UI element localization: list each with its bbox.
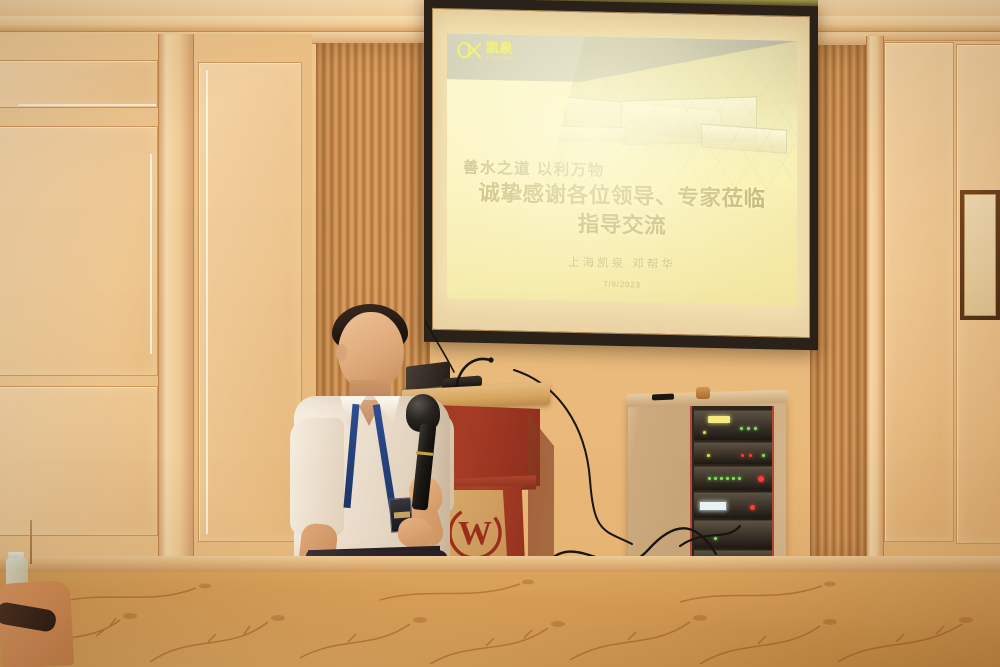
- head: [338, 312, 404, 390]
- kaiquan-logo: 凯泉 KAIQUAN: [457, 40, 516, 60]
- status-led-green: [740, 427, 743, 430]
- fluted-wood-panel-right: [810, 45, 866, 565]
- status-led-red: [750, 505, 755, 510]
- level-led: [732, 477, 735, 480]
- status-led-red: [749, 454, 752, 457]
- slide-presenter: 上海凯泉 邓帮华: [447, 251, 797, 275]
- kaiquan-k-mark-icon: [457, 42, 483, 60]
- patterned-carpet: [0, 572, 1000, 667]
- wall-pilaster: [158, 34, 194, 564]
- wall-pilaster-right: [866, 36, 884, 566]
- vfd-display: [708, 416, 730, 423]
- level-led: [720, 477, 723, 480]
- level-led: [714, 477, 717, 480]
- rack-unit-faceplate: [694, 443, 772, 464]
- rack-unit-mixer[interactable]: [694, 442, 772, 464]
- wall-panel: [0, 60, 158, 108]
- logo-brand-en: KAIQUAN: [486, 56, 516, 61]
- level-led: [708, 477, 711, 480]
- rack-unit-player[interactable]: [694, 492, 772, 518]
- wall-panel: [0, 126, 158, 376]
- wooden-knob: [696, 387, 710, 399]
- projected-slide: 凯泉 KAIQUAN 善水之道 以利万物 诚挚感谢各位领导、专家莅临 指导交流 …: [447, 33, 797, 306]
- artwork-canvas: [964, 194, 996, 316]
- status-led-green: [754, 427, 757, 430]
- level-led: [726, 477, 729, 480]
- clip-led-red: [758, 476, 764, 482]
- carpet-vine-pattern: [0, 572, 1000, 667]
- wall-panel: [0, 386, 158, 536]
- status-led-green: [747, 427, 750, 430]
- panel-highlight: [206, 70, 208, 534]
- framed-artwork: [960, 190, 1000, 320]
- projection-screen: 凯泉 KAIQUAN 善水之道 以利万物 诚挚感谢各位领导、专家莅临 指导交流 …: [424, 0, 818, 346]
- ear: [336, 344, 347, 361]
- status-led-yellow: [707, 454, 710, 457]
- panel-highlight: [150, 154, 152, 354]
- status-led-red: [741, 454, 744, 457]
- logo-brand-cn: 凯泉: [486, 41, 513, 55]
- microphone-body: [412, 423, 437, 510]
- status-led-green: [762, 454, 765, 457]
- chair-upright-rod: [30, 520, 32, 564]
- slide-tagline: 善水之道 以利万物: [463, 156, 605, 181]
- wall-panel-right: [884, 42, 954, 542]
- handheld-microphone: [404, 394, 450, 514]
- conference-room-photo: 凯泉 KAIQUAN 善水之道 以利万物 诚挚感谢各位领导、专家莅临 指导交流 …: [0, 0, 1000, 667]
- slide-headline: 诚挚感谢各位领导、专家莅临 指导交流: [447, 178, 797, 243]
- left-sleeve: [290, 418, 344, 536]
- rack-unit-faceplate: [694, 411, 772, 440]
- slide-date: 7/8/2023: [447, 276, 797, 293]
- lcd-display: [699, 501, 727, 511]
- remote-control[interactable]: [652, 394, 674, 401]
- status-led-yellow: [703, 431, 706, 434]
- rack-unit-processor[interactable]: [694, 466, 772, 490]
- rack-unit-amplifier[interactable]: [694, 410, 772, 440]
- level-led: [738, 477, 741, 480]
- screen-surface: 凯泉 KAIQUAN 善水之道 以利万物 诚挚感谢各位领导、专家莅临 指导交流 …: [432, 8, 810, 338]
- panel-highlight: [18, 104, 156, 106]
- left-panelled-wall: [0, 34, 312, 600]
